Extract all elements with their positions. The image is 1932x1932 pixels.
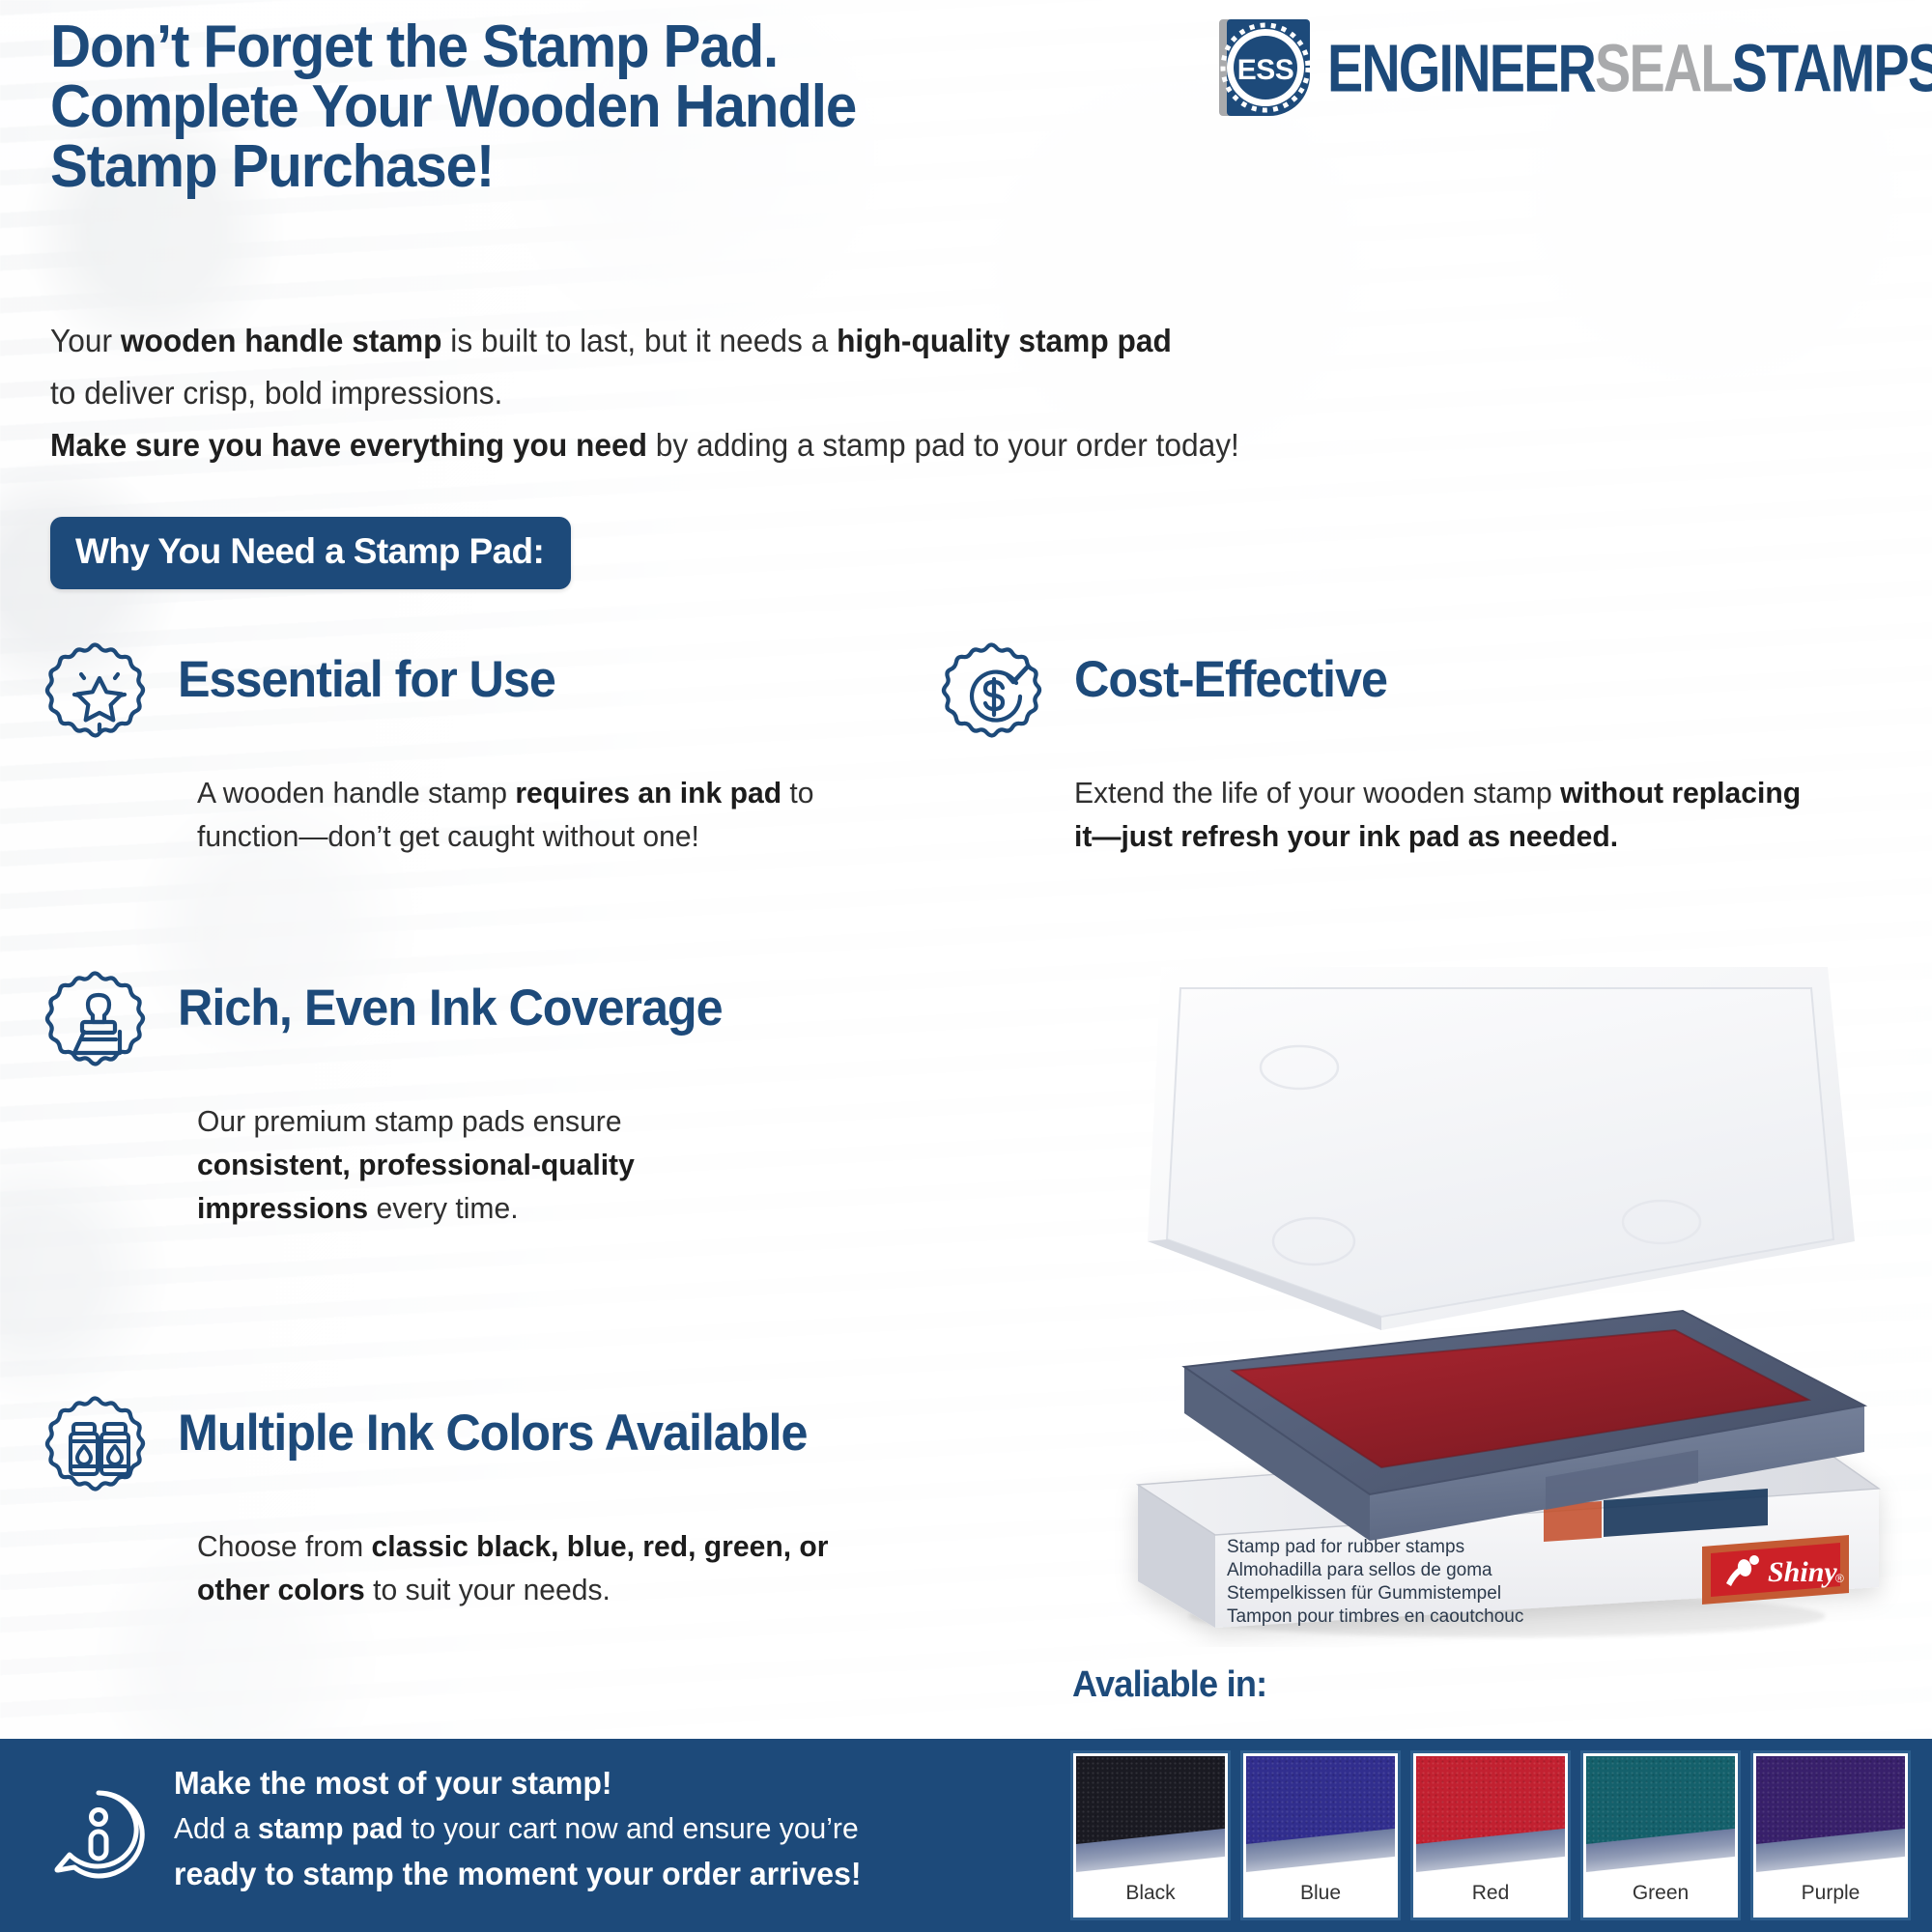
headline-line-1: Don’t Forget the Stamp Pad. (50, 17, 1204, 77)
why-you-need-badge: Why You Need a Stamp Pad: (50, 517, 571, 589)
intro-line-2: to deliver crisp, bold impressions. (50, 367, 1683, 419)
feature-body: Choose from classic black, blue, red, gr… (197, 1524, 835, 1611)
box-line-1: Stamp pad for rubber stamps (1227, 1537, 1464, 1557)
box-line-4: Tampon pour timbres en caoutchouc (1227, 1606, 1523, 1627)
feature-rich-even-ink-coverage: Rich, Even Ink Coverage Our premium stam… (43, 966, 777, 1230)
feature-cost-effective: Cost-Effective Extend the life of your w… (939, 638, 1866, 858)
feature-body-text: Choose from (197, 1529, 371, 1563)
swatch-chip (1586, 1756, 1735, 1872)
footer-bold-stamp-pad: stamp pad (258, 1811, 403, 1845)
footer-text-run: to your cart now and ensure you’re (403, 1811, 858, 1845)
box-line-3: Stempelkissen für Gummistempel (1227, 1583, 1501, 1604)
feature-body: Our premium stamp pads ensure consistent… (197, 1099, 759, 1230)
intro-text: is built to last, but it needs a (442, 323, 838, 358)
ink-bottles-badge-icon (43, 1393, 156, 1507)
svg-text:®: ® (1835, 1572, 1844, 1585)
swatch-chip (1076, 1756, 1225, 1872)
swatch-label: Green (1586, 1872, 1735, 1915)
dollar-check-badge-icon (939, 639, 1053, 753)
footer-line-1: Make the most of your stamp! (174, 1760, 862, 1805)
brand-wordmark: ENGINEERSEALSTAMPS.COM (1327, 36, 1932, 102)
swatch-green[interactable]: Green (1580, 1750, 1741, 1920)
box-line-2: Almohadilla para sellos de goma (1227, 1560, 1492, 1580)
stamp-pad-lid (1148, 967, 1855, 1330)
swatch-red[interactable]: Red (1410, 1750, 1571, 1920)
headline-line-3: Stamp Purchase! (50, 137, 1204, 197)
feature-body-text: Extend the life of your wooden stamp (1074, 776, 1560, 810)
shiny-brand-badge: Shiny ® (1702, 1535, 1849, 1605)
feature-multiple-ink-colors: Multiple Ink Colors Available Choose fro… (43, 1391, 854, 1611)
feature-body-bold: requires an ink pad (515, 776, 781, 810)
intro-bold-high-quality-stamp-pad: high-quality stamp pad (837, 323, 1172, 358)
swatch-chip (1756, 1756, 1905, 1872)
brand-logo[interactable]: ESS ENGINEERSEALSTAMPS.COM (1206, 15, 1920, 124)
headline-line-2: Complete Your Wooden Handle (50, 77, 1204, 137)
stamp-badge-icon (43, 968, 156, 1082)
footer-text-run: Add a (174, 1811, 258, 1845)
footer-line-2: Add a stamp pad to your cart now and ens… (174, 1805, 862, 1851)
star-badge-icon (43, 639, 156, 753)
swatch-label: Blue (1246, 1872, 1395, 1915)
feature-title: Rich, Even Ink Coverage (178, 980, 723, 1037)
feature-body-text: A wooden handle stamp (197, 776, 515, 810)
logo-word-engineer: ENGINEER (1327, 32, 1595, 106)
header: Don’t Forget the Stamp Pad. Complete You… (0, 0, 1932, 232)
intro-line-3: Make sure you have everything you need b… (50, 419, 1683, 471)
footer-line-3: ready to stamp the moment your order arr… (174, 1851, 862, 1896)
page-title: Don’t Forget the Stamp Pad. Complete You… (50, 17, 1204, 197)
stamp-pad-product-photo: Stamp pad for rubber stamps Almohadilla … (1092, 952, 1903, 1647)
feature-essential-for-use: Essential for Use A wooden handle stamp … (43, 638, 912, 858)
intro-line-1: Your wooden handle stamp is built to las… (50, 315, 1683, 367)
swatch-chip (1246, 1756, 1395, 1872)
intro-paragraph: Your wooden handle stamp is built to las… (50, 315, 1683, 471)
feature-body: Extend the life of your wooden stamp wit… (1074, 771, 1824, 858)
swatch-label: Purple (1756, 1872, 1905, 1915)
swatch-chip (1416, 1756, 1565, 1872)
swatch-blue[interactable]: Blue (1240, 1750, 1401, 1920)
feature-body-text: Our premium stamp pads ensure (197, 1104, 622, 1138)
ess-gear-shield-icon: ESS (1206, 15, 1320, 124)
feature-body-text: to suit your needs. (365, 1573, 611, 1606)
feature-title: Cost-Effective (1074, 651, 1387, 709)
swatch-label: Red (1416, 1872, 1565, 1915)
feature-title: Multiple Ink Colors Available (178, 1405, 807, 1463)
feature-body: A wooden handle stamp requires an ink pa… (197, 771, 891, 858)
svg-text:Shiny: Shiny (1768, 1556, 1837, 1588)
ink-color-swatches: Black Blue Red Green (1070, 1750, 1911, 1920)
swatch-label: Black (1076, 1872, 1225, 1915)
feature-body-text: every time. (368, 1191, 518, 1225)
swatch-purple[interactable]: Purple (1750, 1750, 1911, 1920)
feature-title: Essential for Use (178, 651, 555, 709)
logo-word-stamps: STAMPS (1732, 32, 1932, 106)
available-in-label: Avaliable in: (1072, 1664, 1266, 1706)
intro-bold-make-sure: Make sure you have everything you need (50, 427, 647, 463)
swatch-black[interactable]: Black (1070, 1750, 1231, 1920)
svg-text:ESS: ESS (1237, 54, 1294, 86)
footer-text: Make the most of your stamp! Add a stamp… (174, 1760, 862, 1896)
info-bubble-icon (50, 1785, 147, 1882)
intro-text: by adding a stamp pad to your order toda… (647, 427, 1239, 463)
infographic-page: Don’t Forget the Stamp Pad. Complete You… (0, 0, 1932, 1932)
intro-text: Your (50, 323, 121, 358)
logo-word-seal: SEAL (1595, 32, 1732, 106)
intro-bold-wooden-handle-stamp: wooden handle stamp (121, 323, 442, 358)
